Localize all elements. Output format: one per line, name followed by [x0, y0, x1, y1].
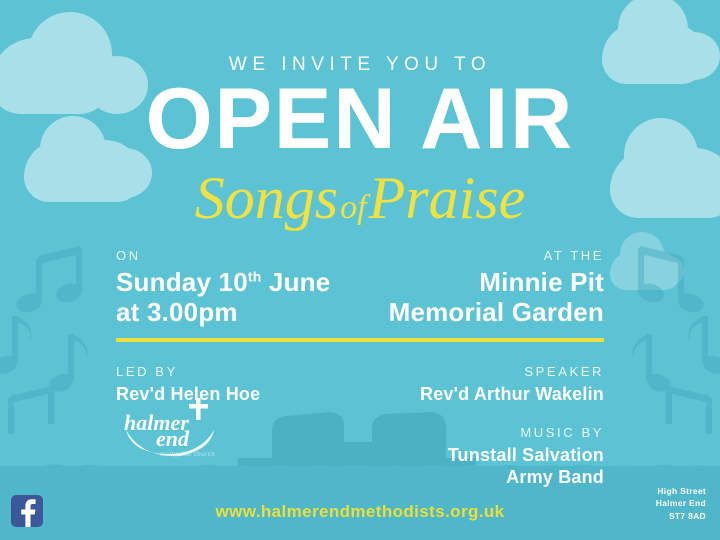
date-day: Sunday 10 — [116, 267, 248, 297]
date-ordinal: th — [248, 268, 262, 284]
venue-underline — [354, 338, 604, 342]
venue-eyebrow: AT THE — [354, 248, 604, 263]
logo-word-end: end — [156, 426, 190, 451]
cross-icon-vertical — [196, 398, 201, 420]
logo-tagline: methodist church — [160, 452, 215, 458]
venue-line-2: Memorial Garden — [354, 298, 604, 328]
subtitle-word-praise: Praise — [369, 165, 526, 231]
speaker-block: SPEAKER Rev'd Arthur Wakelin — [354, 364, 604, 406]
poster-canvas: WE INVITE YOU TO OPEN AIR SongsofPraise … — [0, 0, 720, 540]
facebook-icon[interactable] — [10, 494, 44, 528]
venue-line-1: Minnie Pit — [354, 268, 604, 298]
subtitle-word-songs: Songs — [195, 165, 338, 231]
page-title: OPEN AIR — [0, 76, 720, 162]
music-line-2: Army Band — [354, 467, 604, 489]
speaker-eyebrow: SPEAKER — [354, 364, 604, 379]
website-url[interactable]: www.halmerendmethodists.org.uk — [0, 502, 720, 522]
date-eyebrow: ON — [116, 248, 366, 263]
address-line-1: High Street — [656, 485, 706, 497]
date-line-1: Sunday 10th June — [116, 268, 366, 298]
date-month: June — [261, 267, 330, 297]
halmer-end-church-logo: halmer end methodist church — [118, 396, 244, 460]
address-line-2: Halmer End — [656, 497, 706, 509]
music-notes-icon-right — [612, 238, 720, 438]
led-by-eyebrow: LED BY — [116, 364, 366, 379]
venue-block: AT THE Minnie Pit Memorial Garden — [354, 248, 604, 342]
details-column-left: ON Sunday 10th June at 3.00pm LED BY Rev… — [116, 248, 366, 405]
date-block: ON Sunday 10th June at 3.00pm — [116, 248, 366, 342]
speaker-name: Rev'd Arthur Wakelin — [354, 384, 604, 406]
address-block: High Street Halmer End ST7 8AD — [656, 485, 706, 522]
music-line-1: Tunstall Salvation — [354, 445, 604, 467]
cross-icon-horizontal — [189, 404, 208, 409]
date-underline — [116, 338, 366, 342]
page-subtitle: SongsofPraise — [0, 168, 720, 228]
address-line-3: ST7 8AD — [656, 510, 706, 522]
details-column-right: AT THE Minnie Pit Memorial Garden SPEAKE… — [354, 248, 604, 489]
subtitle-word-of: of — [338, 189, 368, 226]
music-block: MUSIC BY Tunstall Salvation Army Band — [354, 425, 604, 488]
date-line-2: at 3.00pm — [116, 298, 366, 328]
music-eyebrow: MUSIC BY — [354, 425, 604, 440]
music-notes-icon-left — [0, 238, 108, 438]
